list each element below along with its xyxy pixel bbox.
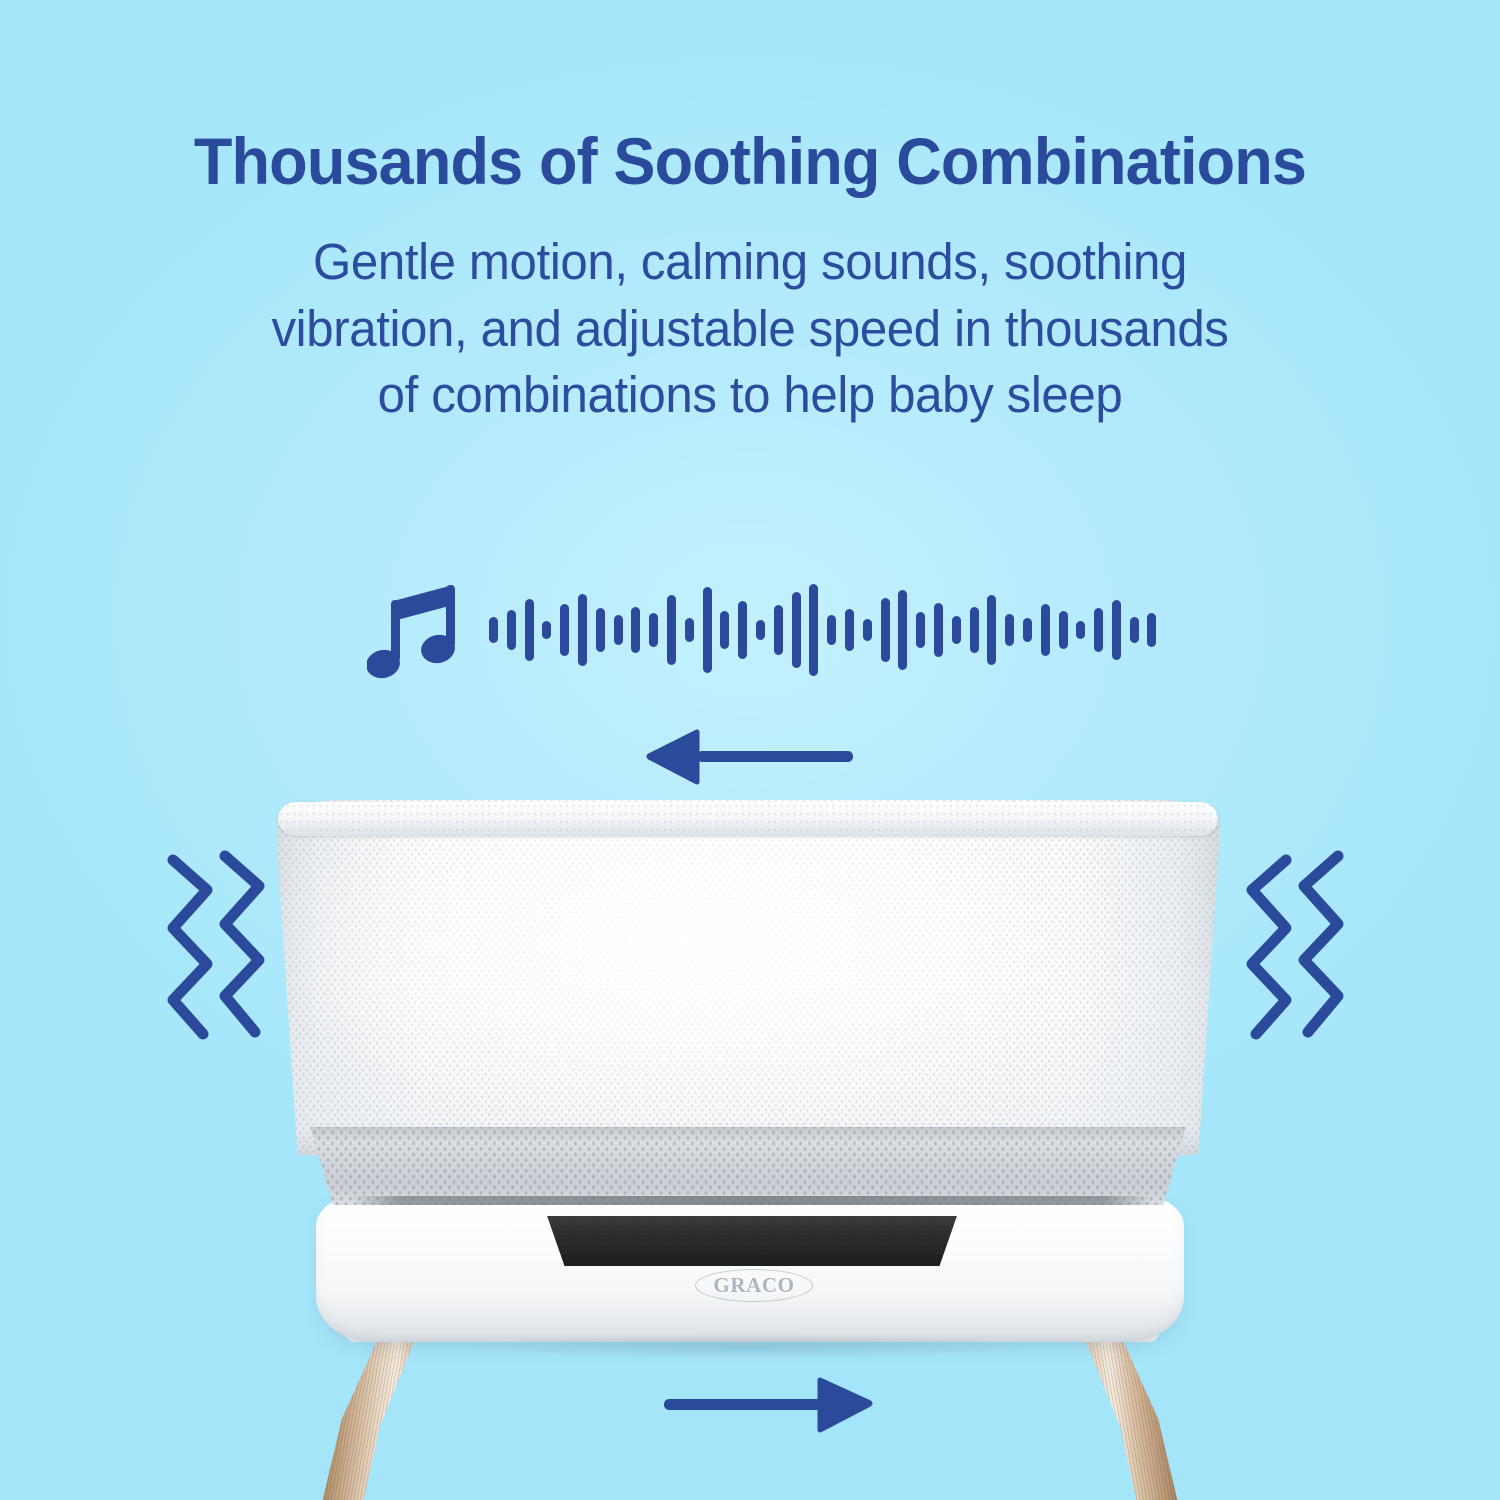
leg-cap-left	[346, 1318, 442, 1342]
bassinet-gray-mesh-band	[310, 1127, 1186, 1205]
sound-wave-bar	[631, 607, 640, 653]
sound-wave-bar	[525, 599, 534, 661]
music-note-icon	[367, 572, 463, 680]
sound-wave-bar	[1076, 621, 1085, 639]
arrow-left-icon	[645, 726, 855, 788]
sound-feature-row	[367, 580, 1157, 680]
sound-wave-bar	[934, 603, 943, 657]
sound-wave-bar	[774, 605, 783, 655]
base-seam-line	[352, 1196, 1152, 1205]
sound-wave-icon	[489, 580, 1157, 680]
sound-wave-bar	[685, 618, 694, 642]
sound-wave-bar	[507, 610, 516, 650]
sound-wave-bar	[952, 616, 961, 644]
sound-wave-bar	[703, 587, 712, 673]
bassinet-mesh-basket	[272, 800, 1224, 1155]
sound-wave-bar	[738, 601, 747, 659]
sound-wave-bar	[1130, 617, 1139, 643]
sound-wave-bar	[667, 595, 676, 665]
sound-wave-bar	[756, 620, 765, 640]
bassinet-top-rail	[278, 802, 1218, 836]
promo-scene: Thousands of Soothing Combinations Gentl…	[0, 0, 1500, 1500]
sound-wave-bar	[987, 595, 996, 665]
leg-cap-right	[1062, 1318, 1158, 1342]
sound-wave-bar	[845, 609, 854, 651]
page-title: Thousands of Soothing Combinations	[34, 128, 1467, 195]
sound-wave-bar	[827, 615, 836, 645]
sound-wave-bar	[489, 617, 498, 643]
wood-leg-left	[322, 1328, 454, 1500]
sound-wave-bar	[614, 615, 623, 645]
sound-wave-bar	[596, 608, 605, 652]
subtitle-line-2: vibration, and adjustable speed in thous…	[26, 296, 1474, 362]
wood-leg-right	[1046, 1328, 1178, 1500]
arrow-right-icon	[660, 1372, 875, 1436]
subtitle-line-1: Gentle motion, calming sounds, soothing	[26, 229, 1474, 295]
sound-wave-bar	[898, 590, 907, 670]
sound-wave-bar	[542, 621, 551, 639]
headline-block: Thousands of Soothing Combinations Gentl…	[0, 128, 1500, 428]
sound-wave-bar	[649, 613, 658, 647]
sound-wave-bar	[970, 607, 979, 653]
base-grip-recess	[534, 1216, 970, 1266]
sound-wave-bar	[1041, 604, 1050, 656]
sound-wave-bar	[1094, 608, 1103, 652]
graco-logo: GRACO	[695, 1269, 813, 1302]
sound-wave-bar	[1005, 614, 1014, 646]
sound-wave-bar	[720, 611, 729, 649]
vibration-zigzag-icon-left	[163, 848, 273, 1048]
sound-wave-bar	[792, 592, 801, 668]
product-shadow	[330, 1330, 1170, 1364]
bassinet-base-unit	[316, 1196, 1184, 1342]
subtitle-line-3: of combinations to help baby sleep	[26, 362, 1474, 428]
sound-wave-bar	[1059, 611, 1068, 649]
vibration-zigzag-icon-right	[1238, 848, 1348, 1048]
sound-wave-bar	[1023, 618, 1032, 642]
sound-wave-bar	[863, 619, 872, 641]
sound-wave-bar	[1147, 613, 1156, 647]
sound-wave-bar	[560, 604, 569, 656]
sound-wave-bar	[881, 598, 890, 662]
sound-wave-bar	[1112, 600, 1121, 660]
subtitle: Gentle motion, calming sounds, soothing …	[26, 229, 1474, 428]
sound-wave-bar	[578, 594, 587, 666]
sound-wave-bar	[809, 584, 818, 676]
sound-wave-bar	[916, 612, 925, 648]
